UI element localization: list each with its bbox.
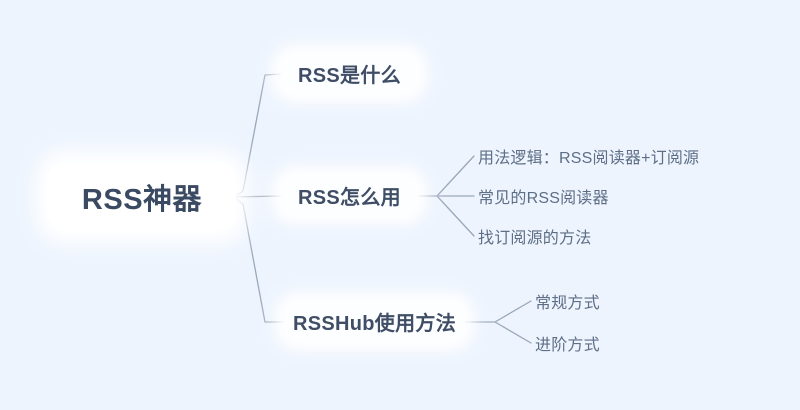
connector-branch-1-to-leaf-2 [437,196,474,236]
connector-root-to-branch-0 [231,74,281,197]
mindmap-leaf-label: 进阶方式 [535,331,600,355]
mindmap-leaf-label: 用法逻辑：RSS阅读器+订阅源 [478,144,699,168]
mindmap-leaf-node[interactable]: 常规方式 [535,289,600,313]
mindmap-branch-node-rss-how-to-use[interactable]: RSS怎么用 [281,176,418,215]
mindmap-branch-label: RSS怎么用 [298,181,401,210]
mindmap-root-label: RSS神器 [82,176,202,218]
mindmap-leaf-label: 常规方式 [535,289,600,313]
mindmap-leaf-label: 常见的RSS阅读器 [478,184,609,208]
mindmap-branch-node-rsshub-usage[interactable]: RSSHub使用方法 [284,302,465,341]
mindmap-canvas: RSS神器 RSS是什么 RSS怎么用 RSSHub使用方法 用法逻辑：RSS阅… [0,0,800,410]
mindmap-branch-node-rss-what-is[interactable]: RSS是什么 [281,54,418,93]
mindmap-leaf-node[interactable]: 进阶方式 [535,331,600,355]
mindmap-branch-label: RSSHub使用方法 [293,307,456,336]
connector-branch-2-to-leaf-0 [465,301,531,322]
connector-root-to-branch-2 [231,197,284,322]
mindmap-leaf-label: 找订阅源的方法 [478,224,591,248]
mindmap-leaf-node[interactable]: 找订阅源的方法 [478,224,591,248]
connector-branch-2-to-leaf-1 [495,322,531,343]
mindmap-branch-label: RSS是什么 [298,59,401,88]
mindmap-leaf-node[interactable]: 常见的RSS阅读器 [478,184,609,208]
mindmap-root-node[interactable]: RSS神器 [48,163,236,231]
connector-root-to-branch-1 [231,196,281,197]
connector-branch-1-to-leaf-0 [418,156,474,196]
mindmap-leaf-node[interactable]: 用法逻辑：RSS阅读器+订阅源 [478,144,699,168]
